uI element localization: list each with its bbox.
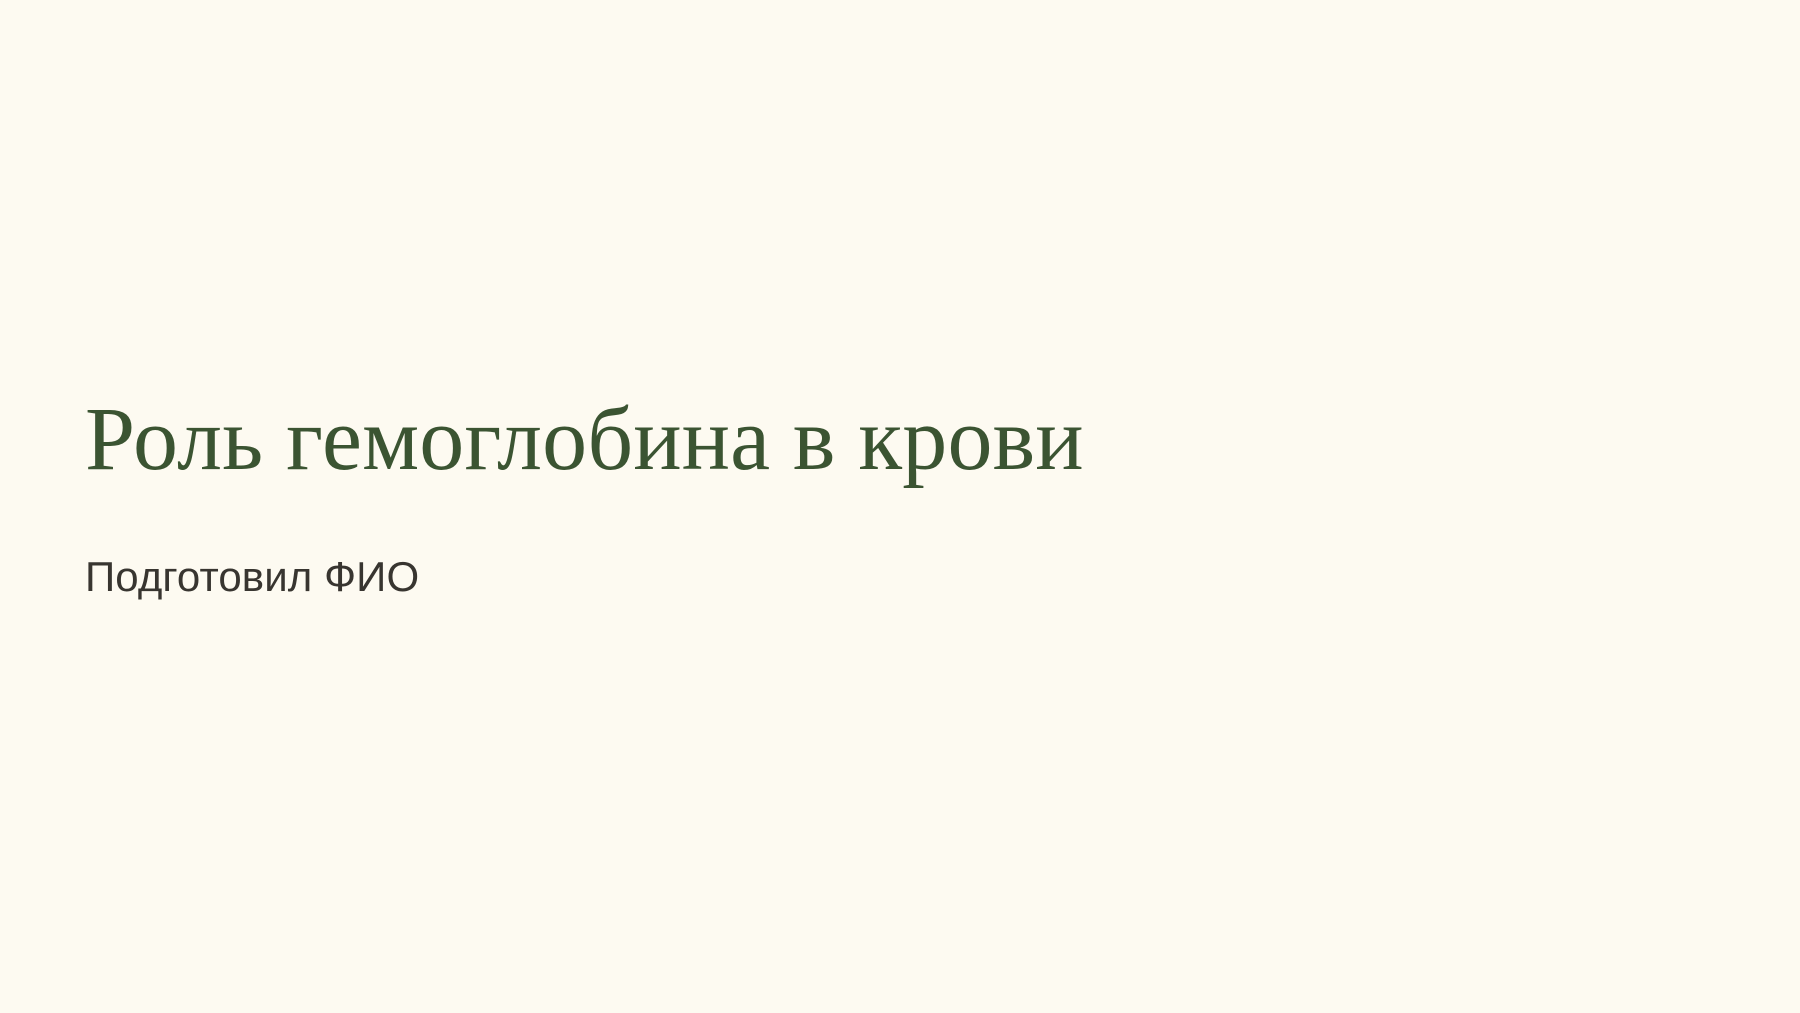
page-title: Роль гемоглобина в крови [85,393,1645,488]
slide-subtitle: Подготовил ФИО [85,487,1645,602]
slide-text-block: Роль гемоглобина в крови Подготовил ФИО [85,393,1645,603]
title-slide: Роль гемоглобина в крови Подготовил ФИО [0,0,1800,1013]
